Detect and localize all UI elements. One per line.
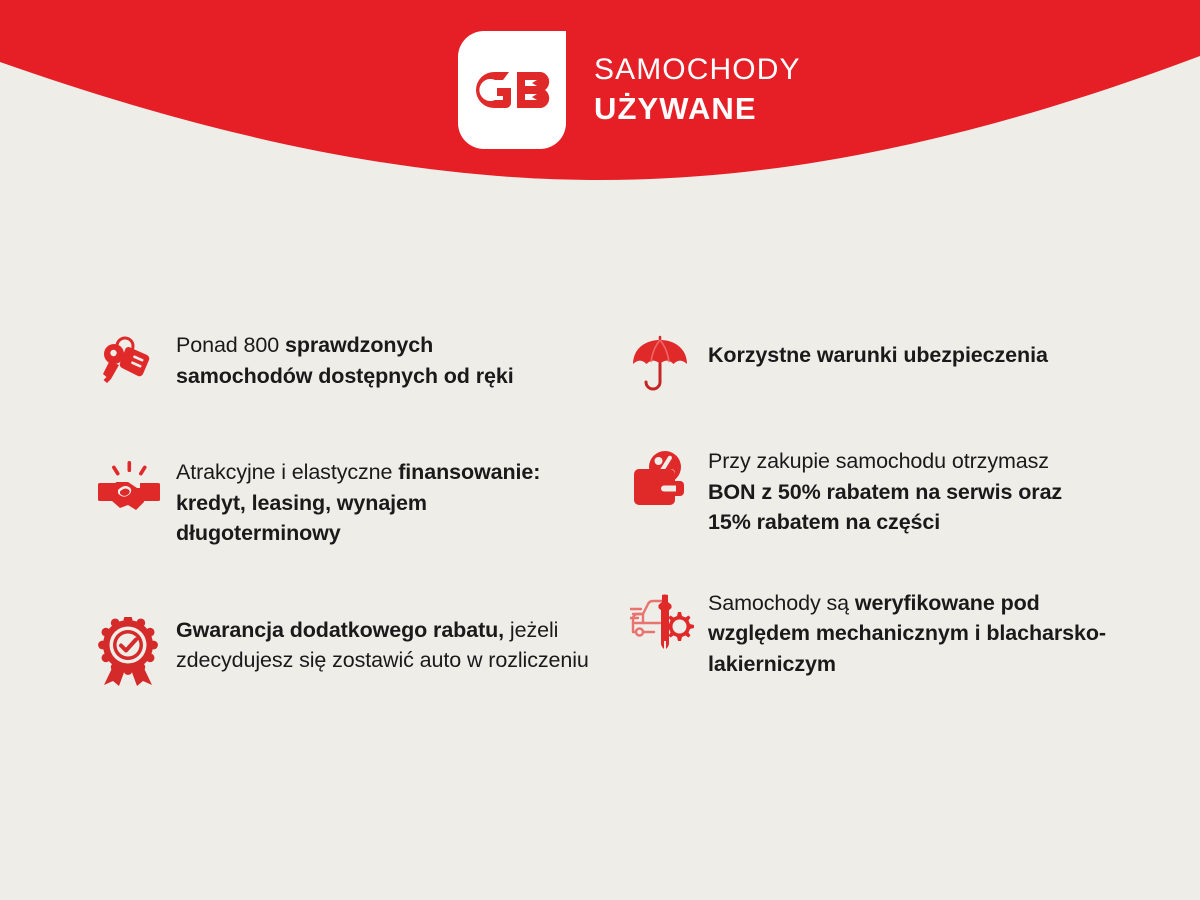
umbrella-icon bbox=[630, 330, 708, 396]
brand-name: SAMOCHODY UŻYWANE bbox=[594, 55, 801, 126]
feature-text-regular: Atrakcyjne i elastyczne bbox=[176, 460, 398, 484]
feature-text: Ponad 800 sprawdzonych samochodów dostęp… bbox=[176, 330, 556, 391]
features-column-left: Ponad 800 sprawdzonych samochodów dostęp… bbox=[30, 330, 590, 687]
feature-item: Ponad 800 sprawdzonych samochodów dostęp… bbox=[98, 330, 590, 391]
gb-logo-mark bbox=[458, 31, 566, 149]
wallet-percent-icon bbox=[630, 446, 708, 512]
feature-text-bold: BON z 50% rabatem na serwis oraz 15% rab… bbox=[708, 480, 1062, 535]
feature-text: Atrakcyjne i elastyczne finansowanie: kr… bbox=[176, 457, 556, 549]
brand-lockup: SAMOCHODY UŻYWANE bbox=[458, 30, 801, 150]
feature-text-regular: Ponad 800 bbox=[176, 333, 285, 357]
feature-item: Korzystne warunki ubezpieczenia bbox=[630, 330, 1170, 396]
feature-item: Atrakcyjne i elastyczne finansowanie: kr… bbox=[98, 457, 590, 549]
feature-text-bold: Gwarancja dodatkowego rabatu, bbox=[176, 618, 504, 642]
feature-text: Gwarancja dodatkowego rabatu, jeżeli zde… bbox=[176, 615, 590, 676]
feature-text: Samochody są weryfikowane pod względem m… bbox=[708, 588, 1108, 680]
award-rosette-icon bbox=[98, 615, 176, 687]
features-grid: Ponad 800 sprawdzonych samochodów dostęp… bbox=[0, 330, 1200, 687]
feature-text: Korzystne warunki ubezpieczenia bbox=[708, 330, 1048, 371]
feature-text-regular: Przy zakupie samochodu otrzymasz bbox=[708, 449, 1049, 473]
features-column-right: Korzystne warunki ubezpieczenia bbox=[610, 330, 1170, 687]
feature-item: Przy zakupie samochodu otrzymasz BON z 5… bbox=[630, 446, 1170, 538]
car-wrench-gear-icon bbox=[630, 588, 708, 652]
feature-text: Przy zakupie samochodu otrzymasz BON z 5… bbox=[708, 446, 1098, 538]
feature-text-bold: Korzystne warunki ubezpieczenia bbox=[708, 343, 1048, 367]
handshake-icon bbox=[98, 457, 176, 519]
feature-item: Gwarancja dodatkowego rabatu, jeżeli zde… bbox=[98, 615, 590, 687]
brand-name-line2: UŻYWANE bbox=[594, 93, 801, 124]
car-keys-icon bbox=[98, 330, 176, 390]
brand-name-line1: SAMOCHODY bbox=[594, 55, 801, 85]
feature-item: Samochody są weryfikowane pod względem m… bbox=[630, 588, 1170, 680]
poster-root: SAMOCHODY UŻYWANE bbox=[0, 0, 1200, 900]
feature-text-regular: Samochody są bbox=[708, 591, 855, 615]
